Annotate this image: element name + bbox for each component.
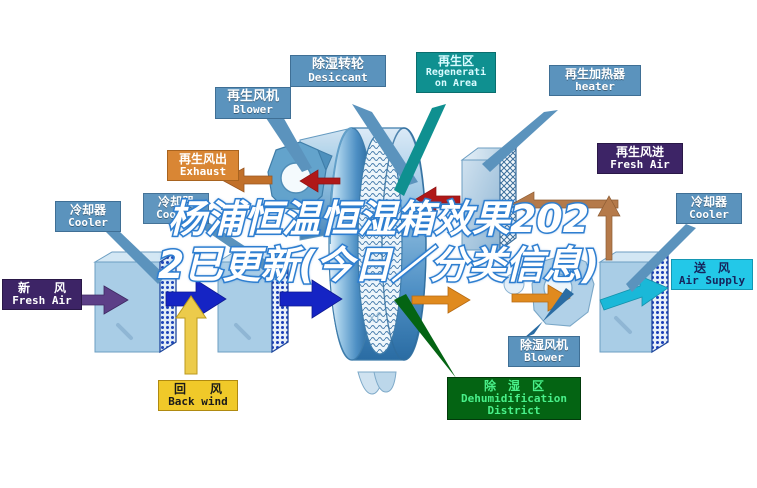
- label-regeneration-area: 再生区 Regenerati on Area: [416, 52, 496, 93]
- label-en: heater: [554, 81, 636, 93]
- label-en: Blower: [513, 352, 575, 364]
- overlay-title-line1: 杨浦恒温恒湿箱效果202: [0, 196, 757, 242]
- label-en: Exhaust: [172, 166, 234, 178]
- label-exhaust: 再生风出 Exhaust: [167, 150, 239, 181]
- label-cn: 再生风机: [220, 90, 286, 104]
- label-regen-heater: 再生加热器 heater: [549, 65, 641, 96]
- label-regen-blower: 再生风机 Blower: [215, 87, 291, 119]
- label-cn: 除 湿 区: [452, 380, 576, 393]
- label-dehumid-blower: 除湿风机 Blower: [508, 336, 580, 367]
- label-en2: District: [452, 405, 576, 417]
- label-en: Desiccant: [295, 72, 381, 84]
- label-cn: 回 风: [163, 383, 233, 396]
- label-cn: 再生加热器: [554, 68, 636, 81]
- label-cn: 再生风出: [172, 153, 234, 166]
- label-en: Fresh Air: [7, 295, 77, 307]
- label-cn: 除湿风机: [513, 339, 575, 352]
- label-desiccant-wheel: 除湿转轮 Desiccant: [290, 55, 386, 87]
- label-cn: 再生风进: [602, 146, 678, 159]
- diagram-canvas: xf: [0, 0, 757, 488]
- label-en: Blower: [220, 104, 286, 116]
- svg-text:xf: xf: [368, 311, 381, 326]
- label-cn: 除湿转轮: [295, 58, 381, 72]
- label-dehumidification-district: 除 湿 区 Dehumidification District: [447, 377, 581, 420]
- label-en: Fresh Air: [602, 159, 678, 171]
- label-en2: on Area: [421, 79, 491, 90]
- label-back-wind: 回 风 Back wind: [158, 380, 238, 411]
- label-en: Back wind: [163, 396, 233, 408]
- overlay-title-line2: 2已更新(今日／分类信息): [0, 242, 757, 288]
- label-regen-fresh-air: 再生风进 Fresh Air: [597, 143, 683, 174]
- label-cn: 再生区: [421, 55, 491, 68]
- overlay-watermark-title: 杨浦恒温恒湿箱效果202 2已更新(今日／分类信息): [0, 196, 757, 288]
